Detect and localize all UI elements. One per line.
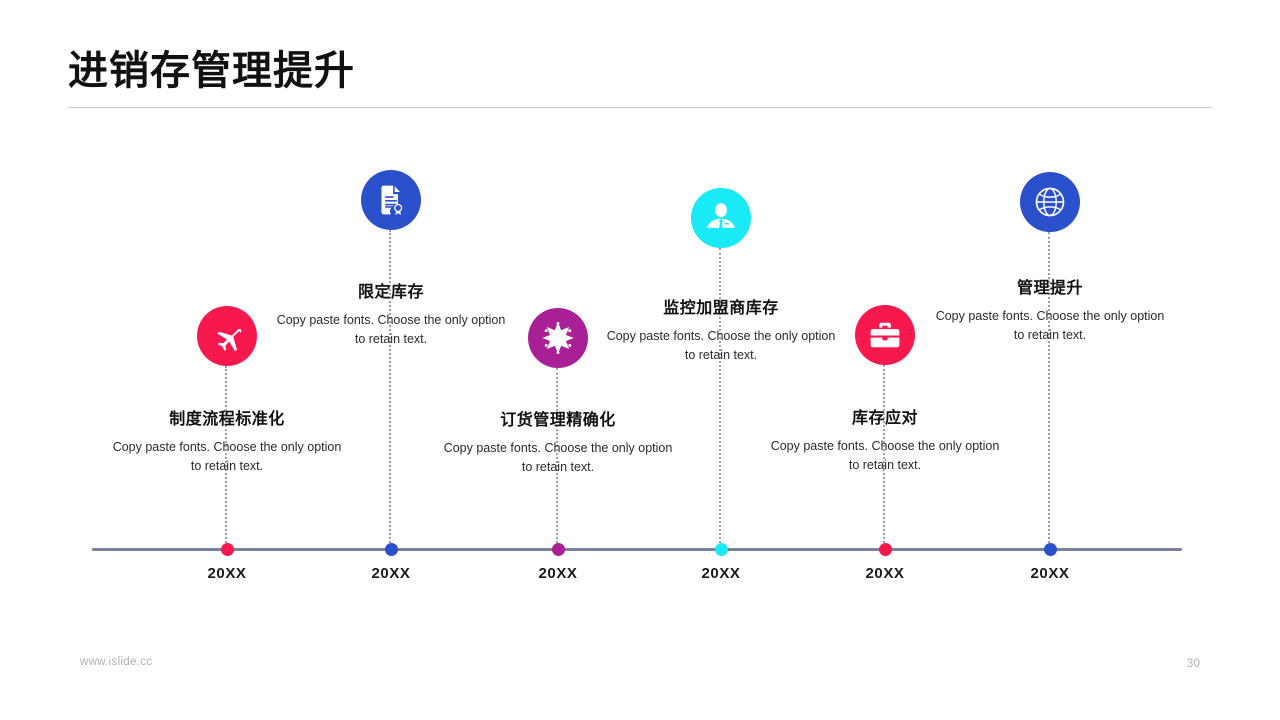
milestone-text-block: 制度流程标准化Copy paste fonts. Choose the only…	[112, 409, 342, 476]
milestone-connector-line	[389, 230, 393, 543]
milestone-connector-line	[719, 248, 723, 543]
milestone-description: Copy paste fonts. Choose the only option…	[770, 437, 1000, 475]
timeline-milestone: 管理提升Copy paste fonts. Choose the only op…	[935, 0, 1165, 720]
milestone-text-block: 管理提升Copy paste fonts. Choose the only op…	[935, 278, 1165, 345]
timeline-axis-dot[interactable]	[879, 543, 892, 556]
timeline-axis-dot[interactable]	[385, 543, 398, 556]
timeline-milestone: 制度流程标准化Copy paste fonts. Choose the only…	[112, 0, 342, 720]
briefcase-icon[interactable]	[855, 305, 915, 365]
timeline-milestone: 监控加盟商库存Copy paste fonts. Choose the only…	[606, 0, 836, 720]
page-number: 30	[1187, 656, 1200, 670]
timeline-axis-dot[interactable]	[715, 543, 728, 556]
milestone-description: Copy paste fonts. Choose the only option…	[112, 438, 342, 476]
timeline-chart: 制度流程标准化Copy paste fonts. Choose the only…	[0, 0, 1280, 720]
milestone-text-block: 库存应对Copy paste fonts. Choose the only op…	[770, 408, 1000, 475]
milestone-heading: 限定库存	[276, 282, 506, 304]
milestone-year-label: 20XX	[935, 565, 1165, 582]
timeline-milestone: 限定库存Copy paste fonts. Choose the only op…	[276, 0, 506, 720]
airplane-icon[interactable]	[197, 306, 257, 366]
milestone-heading: 库存应对	[770, 408, 1000, 430]
milestone-text-block: 限定库存Copy paste fonts. Choose the only op…	[276, 282, 506, 349]
milestone-description: Copy paste fonts. Choose the only option…	[276, 311, 506, 349]
timeline-axis-dot[interactable]	[552, 543, 565, 556]
timeline-axis-dot[interactable]	[1044, 543, 1057, 556]
document-certificate-icon[interactable]	[361, 170, 421, 230]
milestone-heading: 制度流程标准化	[112, 409, 342, 431]
timeline-axis-dot[interactable]	[221, 543, 234, 556]
businessman-icon[interactable]	[691, 188, 751, 248]
slide-canvas: 进销存管理提升 制度流程标准化Copy paste fonts. Choose …	[0, 0, 1280, 720]
footer-site-label: www.islide.cc	[80, 656, 152, 668]
milestone-heading: 订货管理精确化	[443, 410, 673, 432]
milestone-heading: 监控加盟商库存	[606, 298, 836, 320]
globe-icon[interactable]	[1020, 172, 1080, 232]
sheriff-star-icon[interactable]	[528, 308, 588, 368]
timeline-axis	[92, 548, 1182, 551]
milestone-description: Copy paste fonts. Choose the only option…	[606, 327, 836, 365]
milestone-text-block: 订货管理精确化Copy paste fonts. Choose the only…	[443, 410, 673, 477]
milestone-text-block: 监控加盟商库存Copy paste fonts. Choose the only…	[606, 298, 836, 365]
milestone-description: Copy paste fonts. Choose the only option…	[935, 307, 1165, 345]
milestone-heading: 管理提升	[935, 278, 1165, 300]
milestone-description: Copy paste fonts. Choose the only option…	[443, 439, 673, 477]
